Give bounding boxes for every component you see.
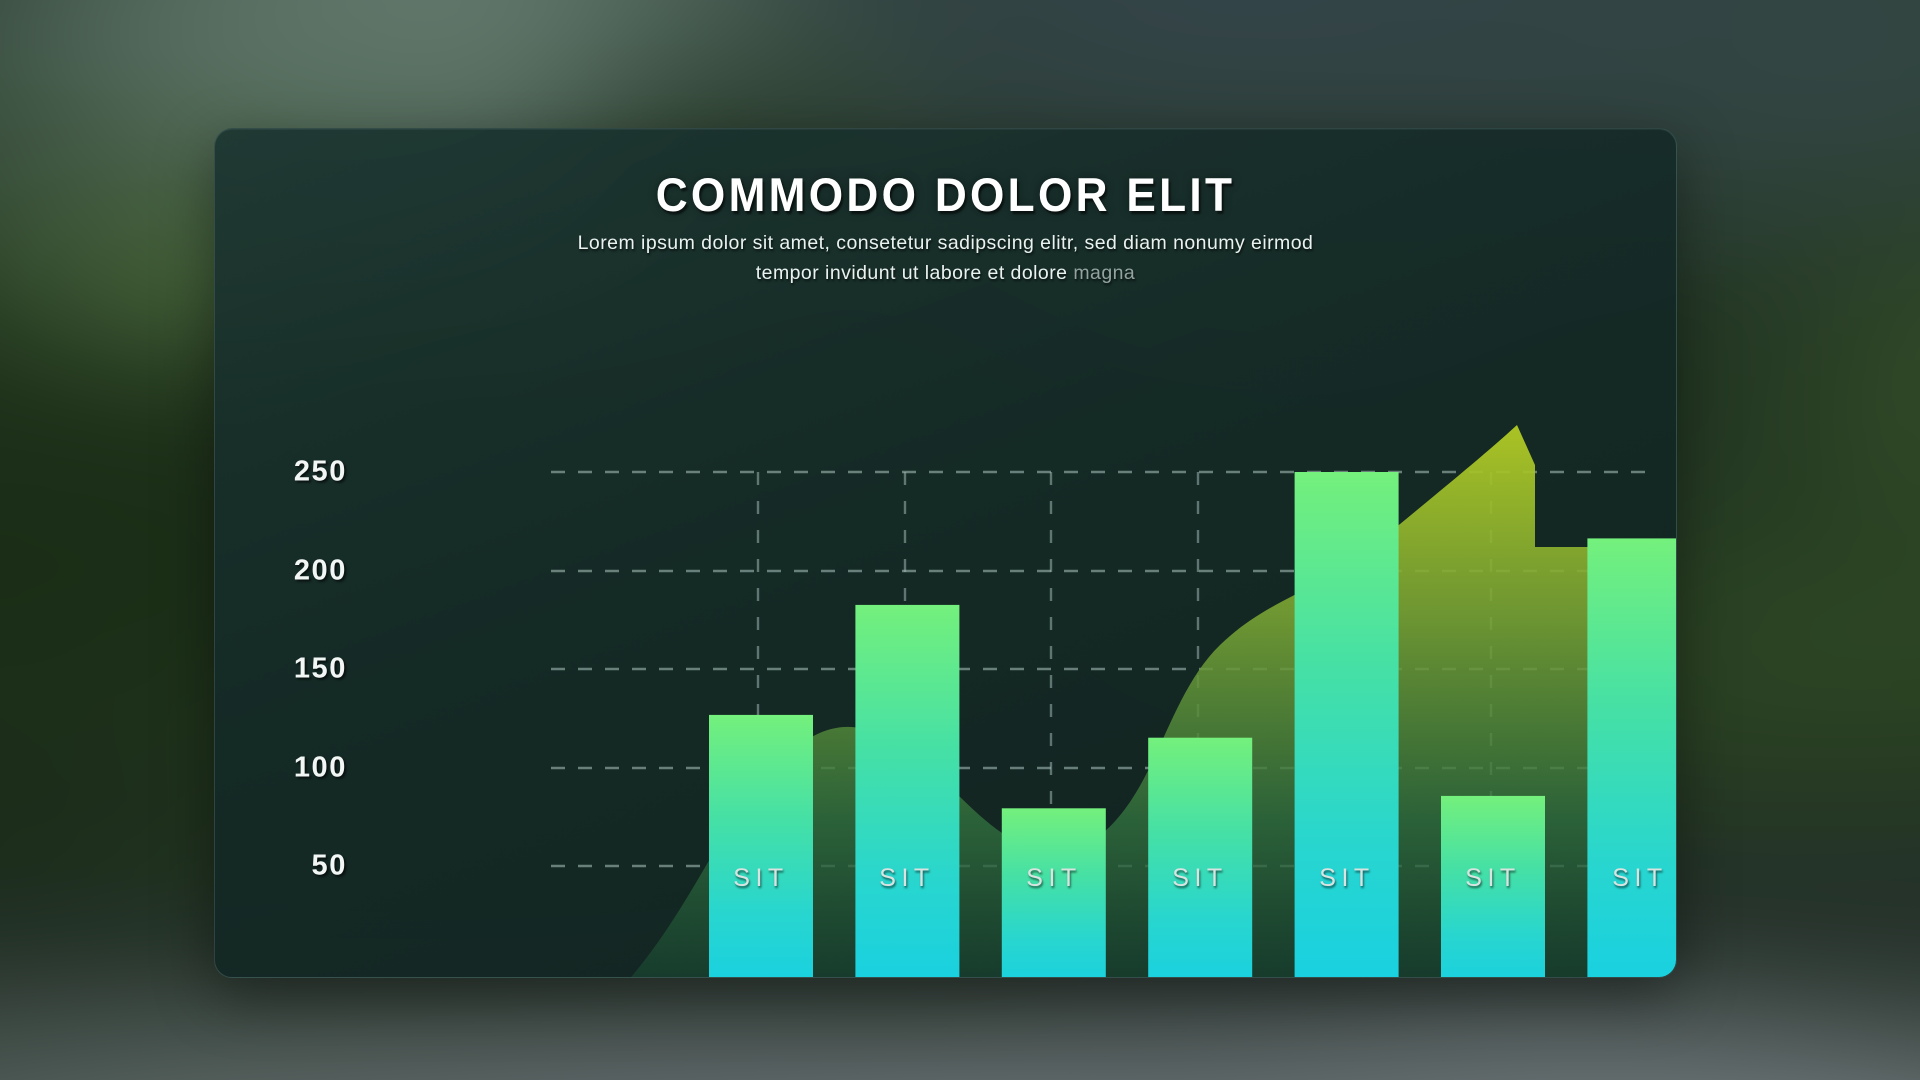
x-tick-5: SIT	[1319, 864, 1374, 893]
x-tick-1: SIT	[733, 864, 788, 893]
x-tick-6: SIT	[1465, 864, 1520, 893]
chart-panel: COMMODO DOLOR ELIT Lorem ipsum dolor sit…	[214, 128, 1677, 978]
x-tick-3: SIT	[1026, 864, 1081, 893]
x-axis-labels: SIT SIT SIT SIT SIT SIT SIT	[215, 129, 1677, 978]
x-tick-7: SIT	[1612, 864, 1667, 893]
x-tick-2: SIT	[879, 864, 934, 893]
x-tick-4: SIT	[1172, 864, 1227, 893]
chart-plot-area: 250 200 150 100 50 SIT SIT SIT SIT SIT S…	[215, 129, 1677, 978]
